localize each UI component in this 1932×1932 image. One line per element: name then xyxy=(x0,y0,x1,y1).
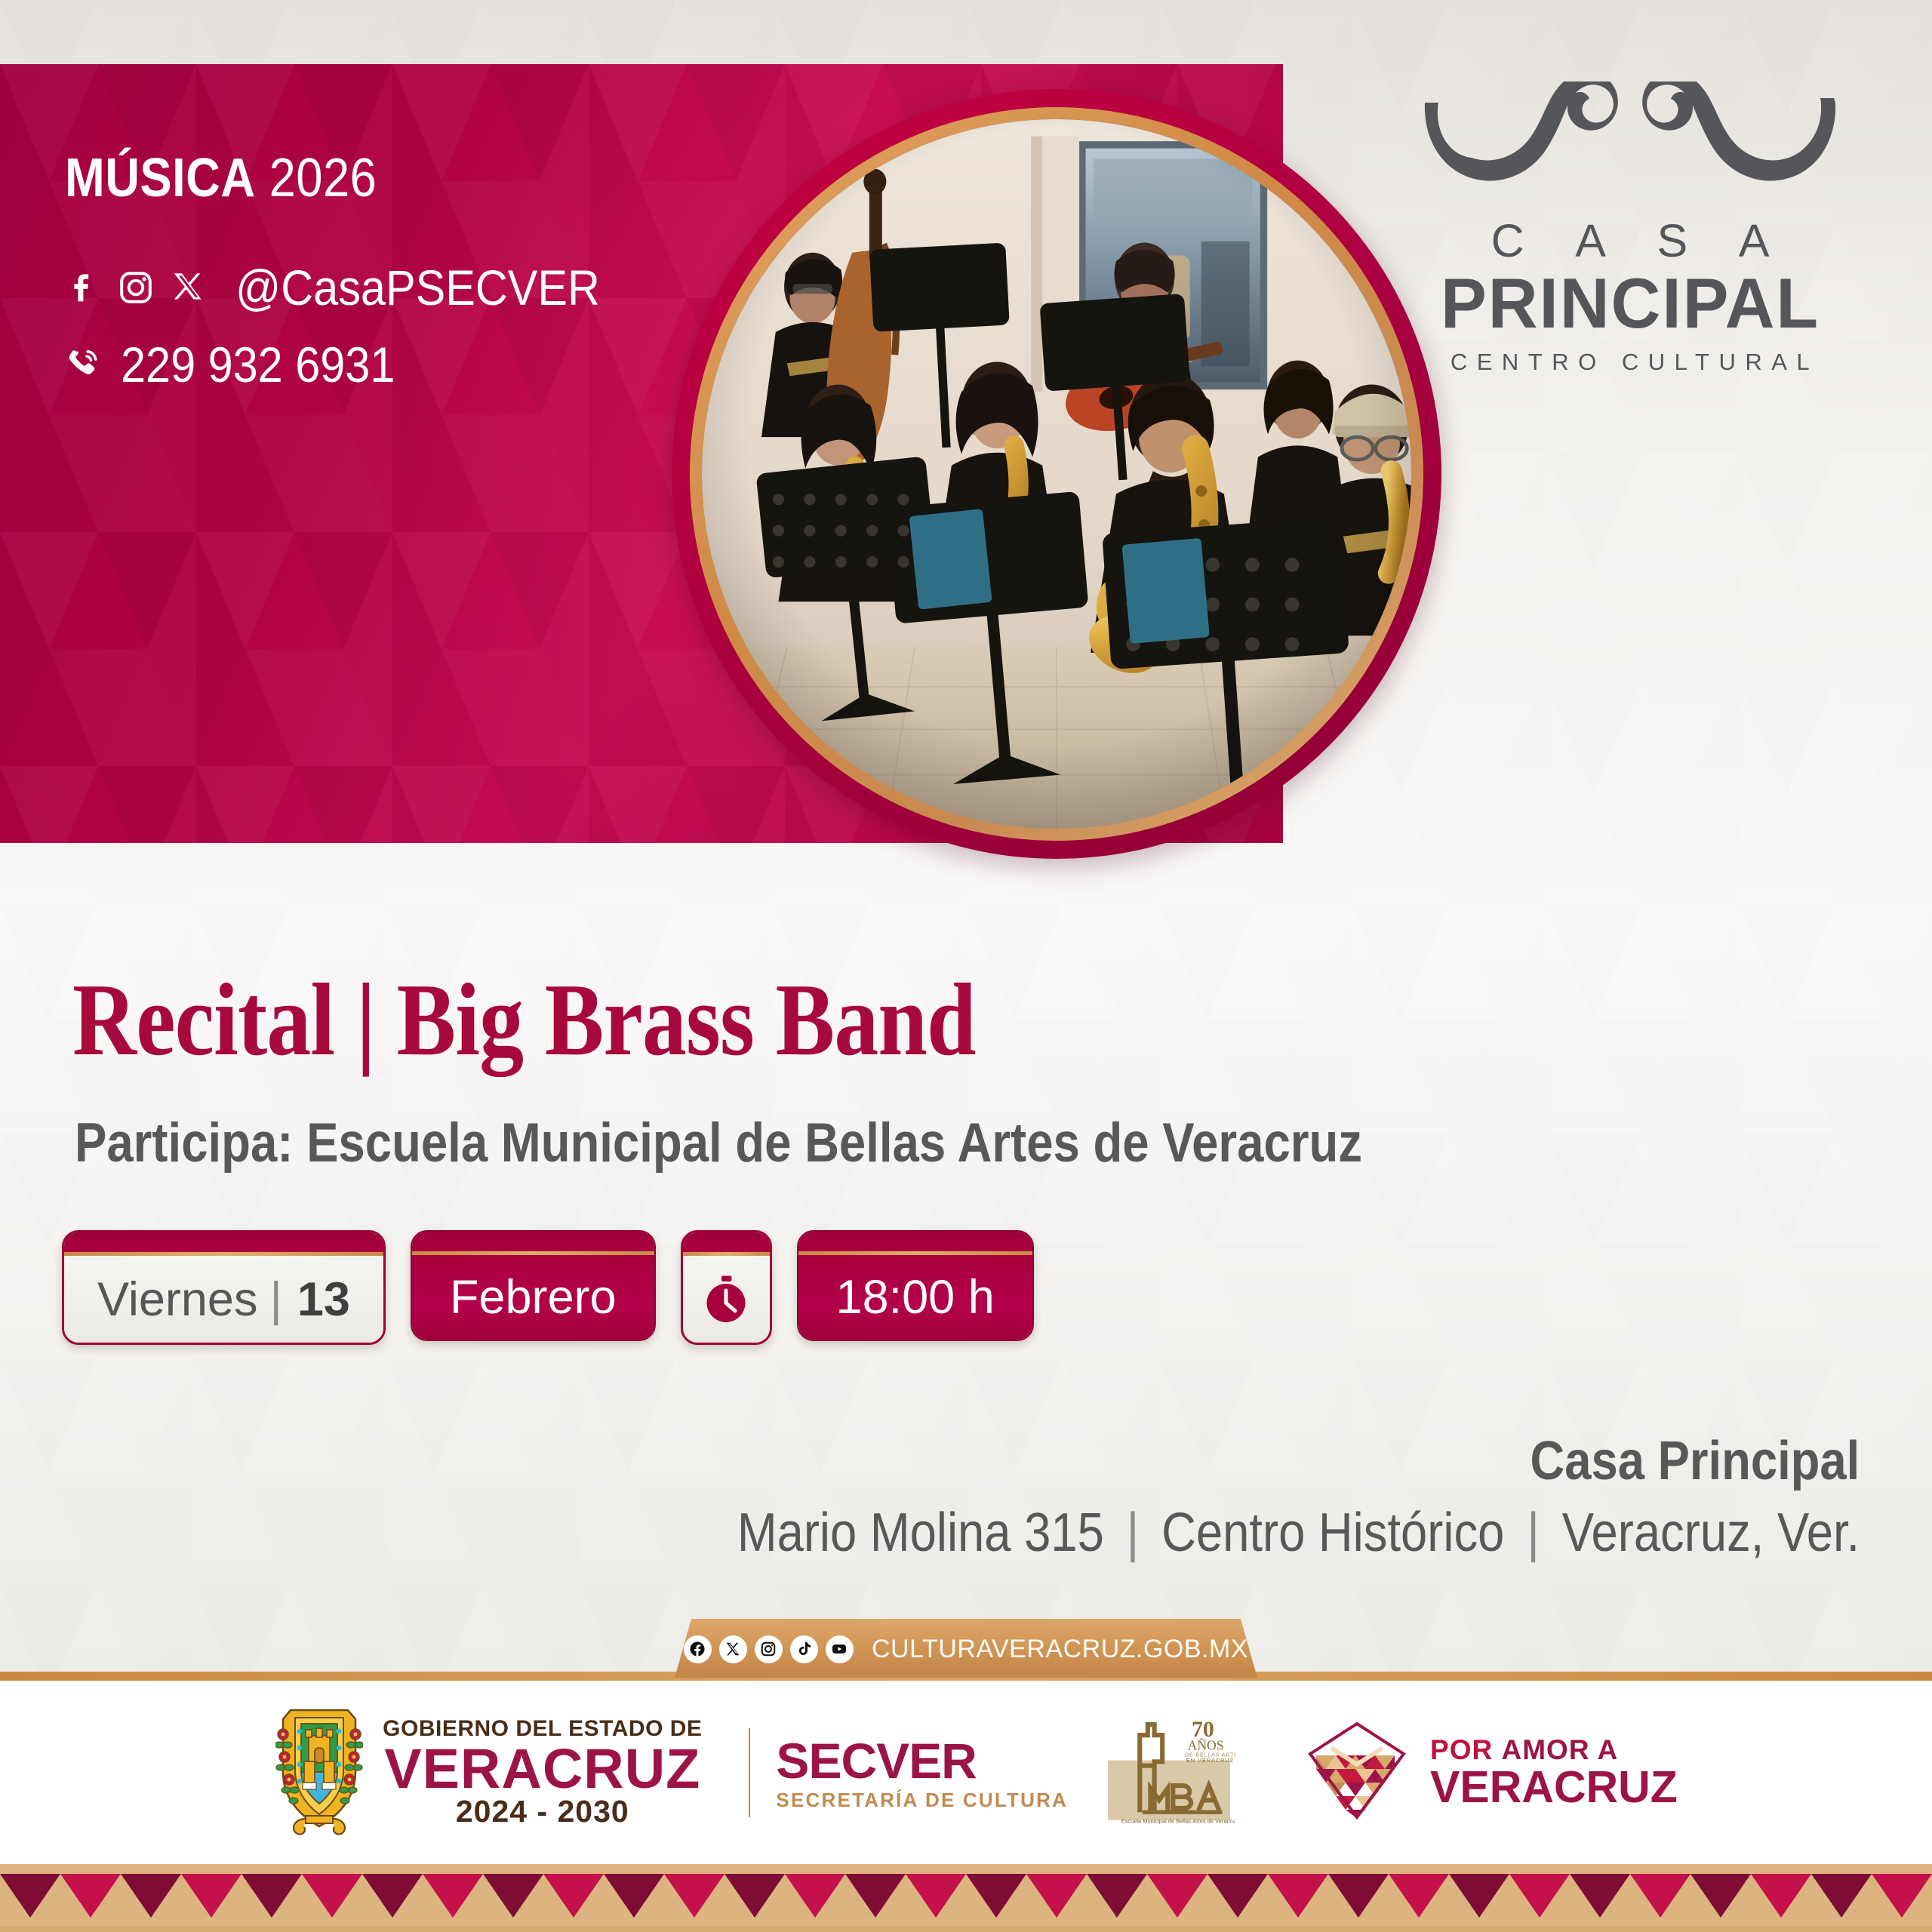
badge-day-label: Viernes xyxy=(97,1272,257,1327)
event-title: Recital | Big Brass Band xyxy=(72,968,976,1072)
secver-logo: SECVER SECRETARÍA DE CULTURA xyxy=(776,1681,1068,1864)
clock-icon xyxy=(699,1272,753,1327)
event-subtitle: Participa: Escuela Municipal de Bellas A… xyxy=(75,1115,1362,1171)
gobierno-veracruz-logo: GOBIERNO DEL ESTADO DE VERACRUZ 2024 - 2… xyxy=(254,1681,723,1864)
badge-cap xyxy=(412,1232,654,1251)
phone-number: 229 932 6931 xyxy=(121,340,395,389)
secver-name: SECVER xyxy=(776,1736,1068,1786)
badge-day[interactable]: Viernes | 13 xyxy=(62,1230,386,1345)
venue-district: Centro Histórico xyxy=(1161,1503,1504,1563)
header-text-block: MÚSICA 2026 @CasaPSECVER 229 932 6931 xyxy=(65,151,641,389)
por-amor-a-veracruz-logo: POR AMOR A VERACRUZ xyxy=(1270,1681,1678,1864)
venue-separator-1: | xyxy=(1127,1503,1139,1563)
kicker-category: MÚSICA xyxy=(65,148,256,208)
gobierno-line3: 2024 - 2030 xyxy=(383,1796,702,1827)
emba-logo: 70 AÑOS DE BELLAS ARTES EN VERACRUZ Escu… xyxy=(1068,1681,1270,1864)
social-handle: @CasaPSECVER xyxy=(235,263,600,312)
badge-clock xyxy=(681,1230,772,1345)
ornamental-flourish-icon xyxy=(1411,82,1849,210)
badge-month[interactable]: Febrero xyxy=(411,1230,656,1341)
footer-divider xyxy=(749,1728,750,1817)
date-time-badges: Viernes | 13 Febrero xyxy=(62,1230,1034,1345)
veracruz-coat-of-arms-icon xyxy=(275,1706,363,1840)
amor-line2: VERACRUZ xyxy=(1430,1765,1678,1810)
badge-month-body: Febrero xyxy=(412,1255,654,1340)
emba-anos: AÑOS xyxy=(1188,1738,1224,1753)
phone-ring-icon xyxy=(65,346,101,383)
gobierno-text: GOBIERNO DEL ESTADO DE VERACRUZ 2024 - 2… xyxy=(383,1718,702,1827)
footer-logo-bar: GOBIERNO DEL ESTADO DE VERACRUZ 2024 - 2… xyxy=(0,1681,1932,1864)
photo-gold-ring xyxy=(690,107,1423,841)
zigzag-final-rule xyxy=(0,1926,1932,1932)
poster-root: MÚSICA 2026 @CasaPSECVER 229 932 6931 xyxy=(0,0,1932,1932)
por-amor-diamond-icon xyxy=(1300,1716,1414,1829)
facebook-icon[interactable] xyxy=(684,1635,712,1663)
venue-street: Mario Molina 315 xyxy=(737,1503,1104,1563)
badge-day-body: Viernes | 13 xyxy=(64,1256,383,1343)
kicker-line: MÚSICA 2026 xyxy=(65,151,571,205)
event-photo-frame xyxy=(672,89,1441,859)
x-icon[interactable] xyxy=(171,269,207,306)
venue-name: Casa Principal xyxy=(1530,1434,1860,1488)
web-social-banner: CULTURAVERACRUZ.GOB.MX xyxy=(675,1619,1257,1678)
amor-amor-a: AMOR A xyxy=(1502,1734,1619,1765)
instagram-icon[interactable] xyxy=(118,269,154,306)
logo-subtitle: CENTRO CULTURAL xyxy=(1411,349,1849,376)
venue-separator-2: | xyxy=(1527,1503,1539,1563)
logo-principal-word: PRINCIPAL xyxy=(1418,267,1843,340)
casa-principal-logo: C A S A PRINCIPAL CENTRO CULTURAL xyxy=(1411,82,1849,376)
gobierno-line2: VERACRUZ xyxy=(383,1742,702,1795)
amor-line1: POR AMOR A xyxy=(1430,1736,1678,1764)
badge-time-label: 18:00 h xyxy=(836,1270,995,1324)
venue-address: Mario Molina 315 | Centro Histórico | Ve… xyxy=(737,1506,1860,1560)
badge-cap xyxy=(683,1232,770,1252)
zigzag-bottom-rule xyxy=(0,1918,1932,1926)
badge-cap xyxy=(64,1232,383,1252)
badge-time[interactable]: 18:00 h xyxy=(797,1230,1034,1341)
tiktok-icon[interactable] xyxy=(790,1635,818,1663)
kicker-year: 2026 xyxy=(269,148,377,208)
x-icon[interactable] xyxy=(719,1635,747,1663)
badge-month-label: Febrero xyxy=(450,1270,617,1324)
event-photo xyxy=(702,119,1411,829)
band-illustration xyxy=(702,119,1411,829)
instagram-icon[interactable] xyxy=(755,1635,783,1663)
badge-time-body: 18:00 h xyxy=(798,1255,1032,1340)
emba-logo-icon: 70 AÑOS DE BELLAS ARTES EN VERACRUZ Escu… xyxy=(1103,1719,1235,1826)
emba-caption: Escuela Municipal de Bellas Artes de Ver… xyxy=(1121,1817,1235,1824)
badge-day-number: 13 xyxy=(297,1272,350,1327)
zigzag-top-rule xyxy=(0,1864,1932,1874)
logo-casa-word: C A S A xyxy=(1411,214,1849,267)
secver-subtitle: SECRETARÍA DE CULTURA xyxy=(776,1790,1068,1810)
youtube-icon[interactable] xyxy=(826,1635,854,1663)
zigzag-pattern xyxy=(0,1874,1932,1918)
emba-line2: EN VERACRUZ xyxy=(1186,1757,1234,1764)
venue-city: Veracruz, Ver. xyxy=(1562,1503,1860,1563)
badge-clock-body xyxy=(683,1256,770,1343)
social-handle-line: @CasaPSECVER xyxy=(65,263,641,312)
badge-day-separator: | xyxy=(269,1272,281,1327)
website-url[interactable]: CULTURAVERACRUZ.GOB.MX xyxy=(872,1635,1248,1664)
badge-cap xyxy=(798,1232,1032,1251)
facebook-icon[interactable] xyxy=(65,269,101,306)
amor-por: POR xyxy=(1430,1734,1501,1765)
phone-line: 229 932 6931 xyxy=(65,340,641,389)
